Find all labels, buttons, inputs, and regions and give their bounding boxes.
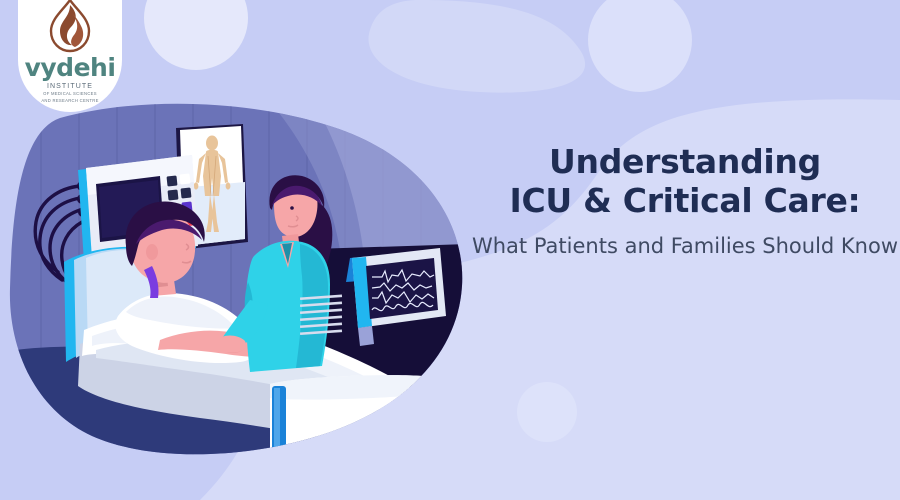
decor-circle-bottom: [517, 382, 577, 442]
heading-line-2: ICU & Critical Care:: [455, 182, 900, 221]
flame-icon: [47, 0, 93, 53]
vydehi-logo[interactable]: vydehi INSTITUTE OF MEDICAL SCIENCES AND…: [18, 0, 122, 112]
room-background-blob: [0, 80, 500, 480]
logo-wordmark: vydehi: [25, 55, 116, 80]
logo-subtitle-line3: AND RESEARCH CENTRE: [41, 98, 98, 104]
logo-subtitle-line1: INSTITUTE: [47, 83, 93, 90]
subheading: What Patients and Families Should Know: [455, 233, 900, 260]
banner-text-block: Understanding ICU & Critical Care: What …: [455, 143, 900, 260]
icu-article-banner: vydehi INSTITUTE OF MEDICAL SCIENCES AND…: [0, 0, 900, 500]
bed-footboard: [270, 375, 442, 480]
logo-subtitle-line2: OF MEDICAL SCIENCES: [43, 91, 97, 97]
heading-line-1: Understanding: [455, 143, 900, 182]
